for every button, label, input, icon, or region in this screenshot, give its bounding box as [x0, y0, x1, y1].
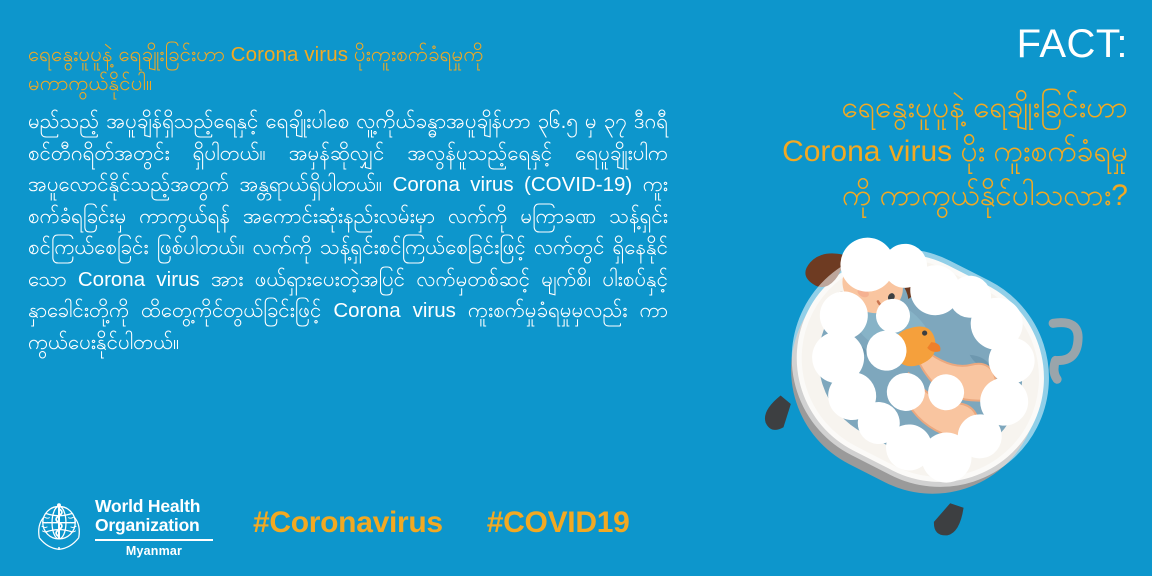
- bathtub-illustration: [706, 236, 1152, 576]
- who-name-line-2: Organization: [95, 516, 213, 536]
- who-divider-rule: [95, 539, 213, 542]
- fact-label: FACT:: [1017, 22, 1128, 66]
- who-wordmark: World Health Organization Myanmar: [95, 494, 213, 559]
- poster-canvas: ရေနွေးပူပူနဲ့ ရေချိုးခြင်းဟာ Corona viru…: [0, 0, 1152, 576]
- tub-leg-right: [930, 499, 967, 540]
- hashtag-coronavirus: #Coronavirus: [253, 506, 443, 540]
- who-emblem-icon: [30, 496, 88, 554]
- hashtag-covid19: #COVID19: [487, 506, 630, 540]
- who-logo: World Health Organization Myanmar: [30, 494, 213, 559]
- footer: World Health Organization Myanmar #Coron…: [30, 494, 629, 559]
- fact-question-headline: ရေနွေးပူပူနဲ့ ရေချိုးခြင်းဟာ Corona viru…: [568, 86, 1128, 218]
- tub-leg-left: [760, 393, 795, 434]
- who-name-line-1: World Health: [95, 497, 213, 517]
- rod-of-asclepius-icon: [56, 503, 62, 539]
- hashtag-group: #Coronavirus #COVID19: [253, 506, 629, 546]
- who-country-label: Myanmar: [95, 544, 213, 558]
